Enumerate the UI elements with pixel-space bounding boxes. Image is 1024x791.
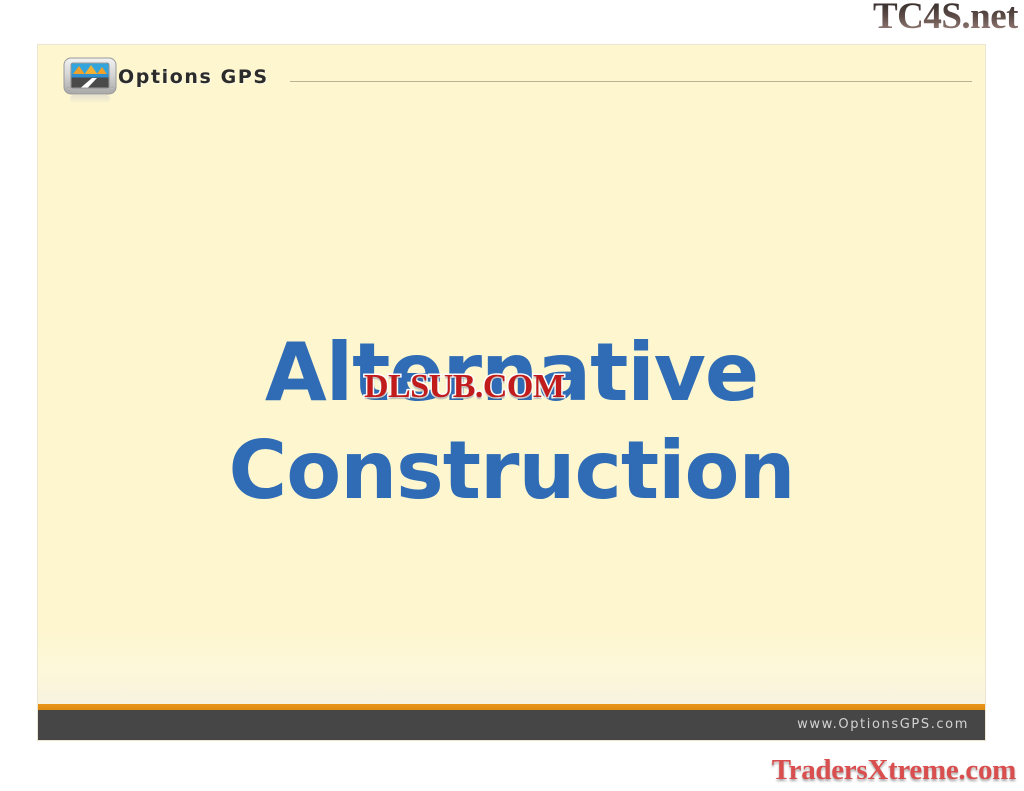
gps-device-icon (61, 56, 119, 104)
tc4s-watermark: TC4S.net (873, 0, 1018, 37)
slide-footer: www.OptionsGPS.com (38, 710, 985, 740)
slide-header: Options GPS (38, 45, 985, 115)
slide-title: Alternative Construction (98, 324, 925, 521)
header-divider (290, 81, 972, 82)
dlsub-watermark: DLSUB.COM (364, 368, 564, 406)
brand-title: Options GPS (118, 66, 269, 88)
footer-website-url: www.OptionsGPS.com (797, 717, 969, 732)
tradersxtreme-watermark: TradersXtreme.com (772, 754, 1016, 787)
